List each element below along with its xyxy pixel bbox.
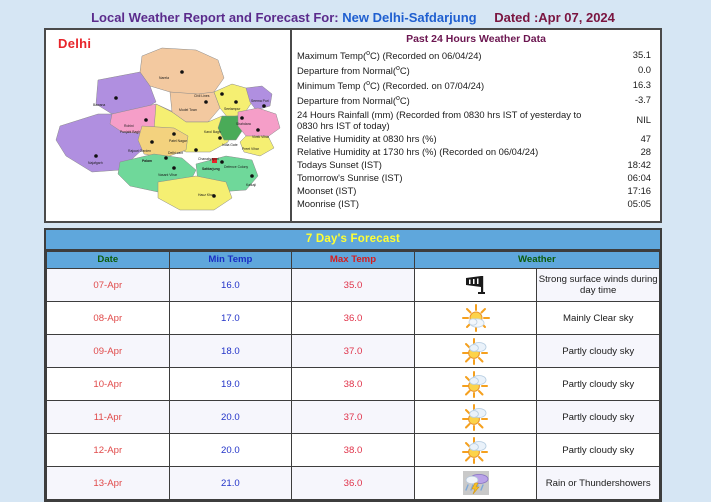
forecast-weather-text: Mainly Clear sky: [537, 302, 660, 335]
delhi-district-map: Narela Bawana Rohini Civil Lines Model T…: [46, 30, 290, 221]
table-row: Relative Humidity at 1730 hrs (%) (Recor…: [292, 145, 660, 158]
row-value: NIL: [588, 108, 660, 132]
table-row: 24 Hours Rainfall (mm) (Recorded from 08…: [292, 108, 660, 132]
row-value: 05:05: [588, 197, 660, 210]
svg-text:Punjabi Bagh: Punjabi Bagh: [120, 130, 140, 134]
forecast-date: 11-Apr: [47, 401, 170, 434]
svg-text:Safdarjung: Safdarjung: [202, 167, 220, 171]
row-value: 0.0: [588, 62, 660, 77]
row-label: Todays Sunset (IST): [292, 158, 588, 171]
svg-text:Bawana: Bawana: [93, 103, 105, 107]
forecast-weather-text: Strong surface winds during day time: [537, 269, 660, 302]
svg-text:Vivek Vihar: Vivek Vihar: [252, 135, 270, 139]
forecast-date: 07-Apr: [47, 269, 170, 302]
row-value: 16.3: [588, 77, 660, 92]
svg-text:Hauz Khas: Hauz Khas: [198, 193, 215, 197]
svg-text:Defence Colony: Defence Colony: [224, 165, 248, 169]
forecast-weather-text: Partly cloudy sky: [537, 434, 660, 467]
forecast-date: 10-Apr: [47, 368, 170, 401]
row-value: 06:04: [588, 171, 660, 184]
row-label: Maximum Temp(oC) (Recorded on 06/04/24): [292, 47, 588, 62]
partly-cloudy-icon: [414, 368, 537, 401]
table-row: 11-Apr 20.0 37.0: [47, 401, 660, 434]
svg-text:Karol Bagh: Karol Bagh: [204, 130, 221, 134]
svg-text:Vasant Vihar: Vasant Vihar: [158, 173, 178, 177]
forecast-date: 09-Apr: [47, 335, 170, 368]
svg-text:Rohini: Rohini: [124, 124, 134, 128]
forecast-min-temp: 18.0: [169, 335, 292, 368]
forecast-table: Date Min Temp Max Temp Weather 07-Apr 16…: [46, 251, 660, 500]
forecast-max-temp: 35.0: [292, 269, 415, 302]
svg-text:Najafgarh: Najafgarh: [88, 161, 103, 165]
svg-text:Patel Nagar: Patel Nagar: [169, 139, 188, 143]
forecast-weather-text: Partly cloudy sky: [537, 401, 660, 434]
table-row: 13-Apr 21.0 36.0: [47, 467, 660, 500]
row-value: 17:16: [588, 184, 660, 197]
forecast-max-temp: 38.0: [292, 434, 415, 467]
column-header-max-temp: Max Temp: [292, 252, 415, 269]
forecast-date: 12-Apr: [47, 434, 170, 467]
row-label: Relative Humidity at 1730 hrs (%) (Recor…: [292, 145, 588, 158]
table-row: Departure from Normal(oC) 0.0: [292, 62, 660, 77]
svg-text:Model Town: Model Town: [179, 108, 197, 112]
row-label: Moonrise (IST): [292, 197, 588, 210]
table-row: 08-Apr 17.0 36.0: [47, 302, 660, 335]
svg-text:Rajouri Garden: Rajouri Garden: [128, 149, 151, 153]
forecast-min-temp: 19.0: [169, 368, 292, 401]
row-value: 47: [588, 132, 660, 145]
forecast-max-temp: 37.0: [292, 335, 415, 368]
svg-text:Kalkaji: Kalkaji: [246, 183, 256, 187]
title-date: Dated :Apr 07, 2024: [494, 10, 615, 25]
title-station-name: New Delhi-Safdarjung: [342, 10, 476, 25]
partly-cloudy-icon: [414, 434, 537, 467]
row-value: 28: [588, 145, 660, 158]
svg-text:Shahdara: Shahdara: [236, 122, 251, 126]
table-row: Maximum Temp(oC) (Recorded on 06/04/24) …: [292, 47, 660, 62]
column-header-weather: Weather: [414, 252, 659, 269]
table-row: Todays Sunset (IST) 18:42: [292, 158, 660, 171]
page-title: Local Weather Report and Forecast For: N…: [44, 8, 662, 28]
svg-text:Seelampur: Seelampur: [224, 107, 241, 111]
row-value: 18:42: [588, 158, 660, 171]
table-row: 10-Apr 19.0 38.0: [47, 368, 660, 401]
forecast-min-temp: 17.0: [169, 302, 292, 335]
forecast-panel: 7 Day's Forecast Date Min Temp Max Temp …: [44, 228, 662, 502]
forecast-weather-text: Partly cloudy sky: [537, 335, 660, 368]
thunderstorm-icon: [414, 467, 537, 500]
svg-text:Preet Vihar: Preet Vihar: [242, 147, 260, 151]
svg-text:Palam: Palam: [142, 159, 152, 163]
svg-text:India Gate: India Gate: [222, 143, 238, 147]
table-row: Minimum Temp (oC) (Recorded. on 07/04/24…: [292, 77, 660, 92]
row-value: -3.7: [588, 92, 660, 107]
delhi-map-panel: Delhi: [46, 30, 292, 221]
svg-text:Narela: Narela: [159, 76, 169, 80]
partly-cloudy-icon: [414, 335, 537, 368]
table-row: 12-Apr 20.0 38.0: [47, 434, 660, 467]
column-header-min-temp: Min Temp: [169, 252, 292, 269]
forecast-max-temp: 36.0: [292, 302, 415, 335]
row-label: Relative Humidity at 0830 hrs (%): [292, 132, 588, 145]
windsock-icon: [414, 269, 537, 302]
svg-text:Seema Puri: Seema Puri: [251, 99, 269, 103]
table-row: 07-Apr 16.0 35.0: [47, 269, 660, 302]
forecast-min-temp: 16.0: [169, 269, 292, 302]
past-24-heading: Past 24 Hours Weather Data: [292, 30, 660, 47]
sun-cloud-icon: [414, 302, 537, 335]
forecast-weather-text: Rain or Thundershowers: [537, 467, 660, 500]
top-panel: Delhi: [44, 28, 662, 223]
forecast-title: 7 Day's Forecast: [46, 230, 660, 251]
table-row: Departure from Normal(oC) -3.7: [292, 92, 660, 107]
forecast-weather-text: Partly cloudy sky: [537, 368, 660, 401]
forecast-max-temp: 36.0: [292, 467, 415, 500]
title-main-text: Local Weather Report and Forecast For:: [91, 10, 339, 25]
past-24-hours-panel: Past 24 Hours Weather Data Maximum Temp(…: [292, 30, 660, 221]
row-label: 24 Hours Rainfall (mm) (Recorded from 08…: [292, 108, 588, 132]
forecast-date: 08-Apr: [47, 302, 170, 335]
row-label: Departure from Normal(oC): [292, 62, 588, 77]
forecast-min-temp: 20.0: [169, 434, 292, 467]
table-row: Relative Humidity at 0830 hrs (%) 47: [292, 132, 660, 145]
forecast-min-temp: 20.0: [169, 401, 292, 434]
column-header-date: Date: [47, 252, 170, 269]
forecast-max-temp: 38.0: [292, 368, 415, 401]
table-row: Moonset (IST) 17:16: [292, 184, 660, 197]
forecast-date: 13-Apr: [47, 467, 170, 500]
svg-text:Chanakyapuri: Chanakyapuri: [198, 157, 219, 161]
weather-report-page: Local Weather Report and Forecast For: N…: [0, 0, 711, 492]
svg-text:Delhi cant: Delhi cant: [168, 151, 183, 155]
forecast-header-row: Date Min Temp Max Temp Weather: [47, 252, 660, 269]
row-label: Moonset (IST): [292, 184, 588, 197]
row-value: 35.1: [588, 47, 660, 62]
row-label: Tomorrow's Sunrise (IST): [292, 171, 588, 184]
past-24-table: Maximum Temp(oC) (Recorded on 06/04/24) …: [292, 47, 660, 210]
table-row: Moonrise (IST) 05:05: [292, 197, 660, 210]
table-row: 09-Apr 18.0 37.0: [47, 335, 660, 368]
table-row: Tomorrow's Sunrise (IST) 06:04: [292, 171, 660, 184]
row-label: Minimum Temp (oC) (Recorded. on 07/04/24…: [292, 77, 588, 92]
forecast-max-temp: 37.0: [292, 401, 415, 434]
forecast-min-temp: 21.0: [169, 467, 292, 500]
partly-cloudy-icon: [414, 401, 537, 434]
svg-text:Civil Lines: Civil Lines: [194, 94, 210, 98]
row-label: Departure from Normal(oC): [292, 92, 588, 107]
